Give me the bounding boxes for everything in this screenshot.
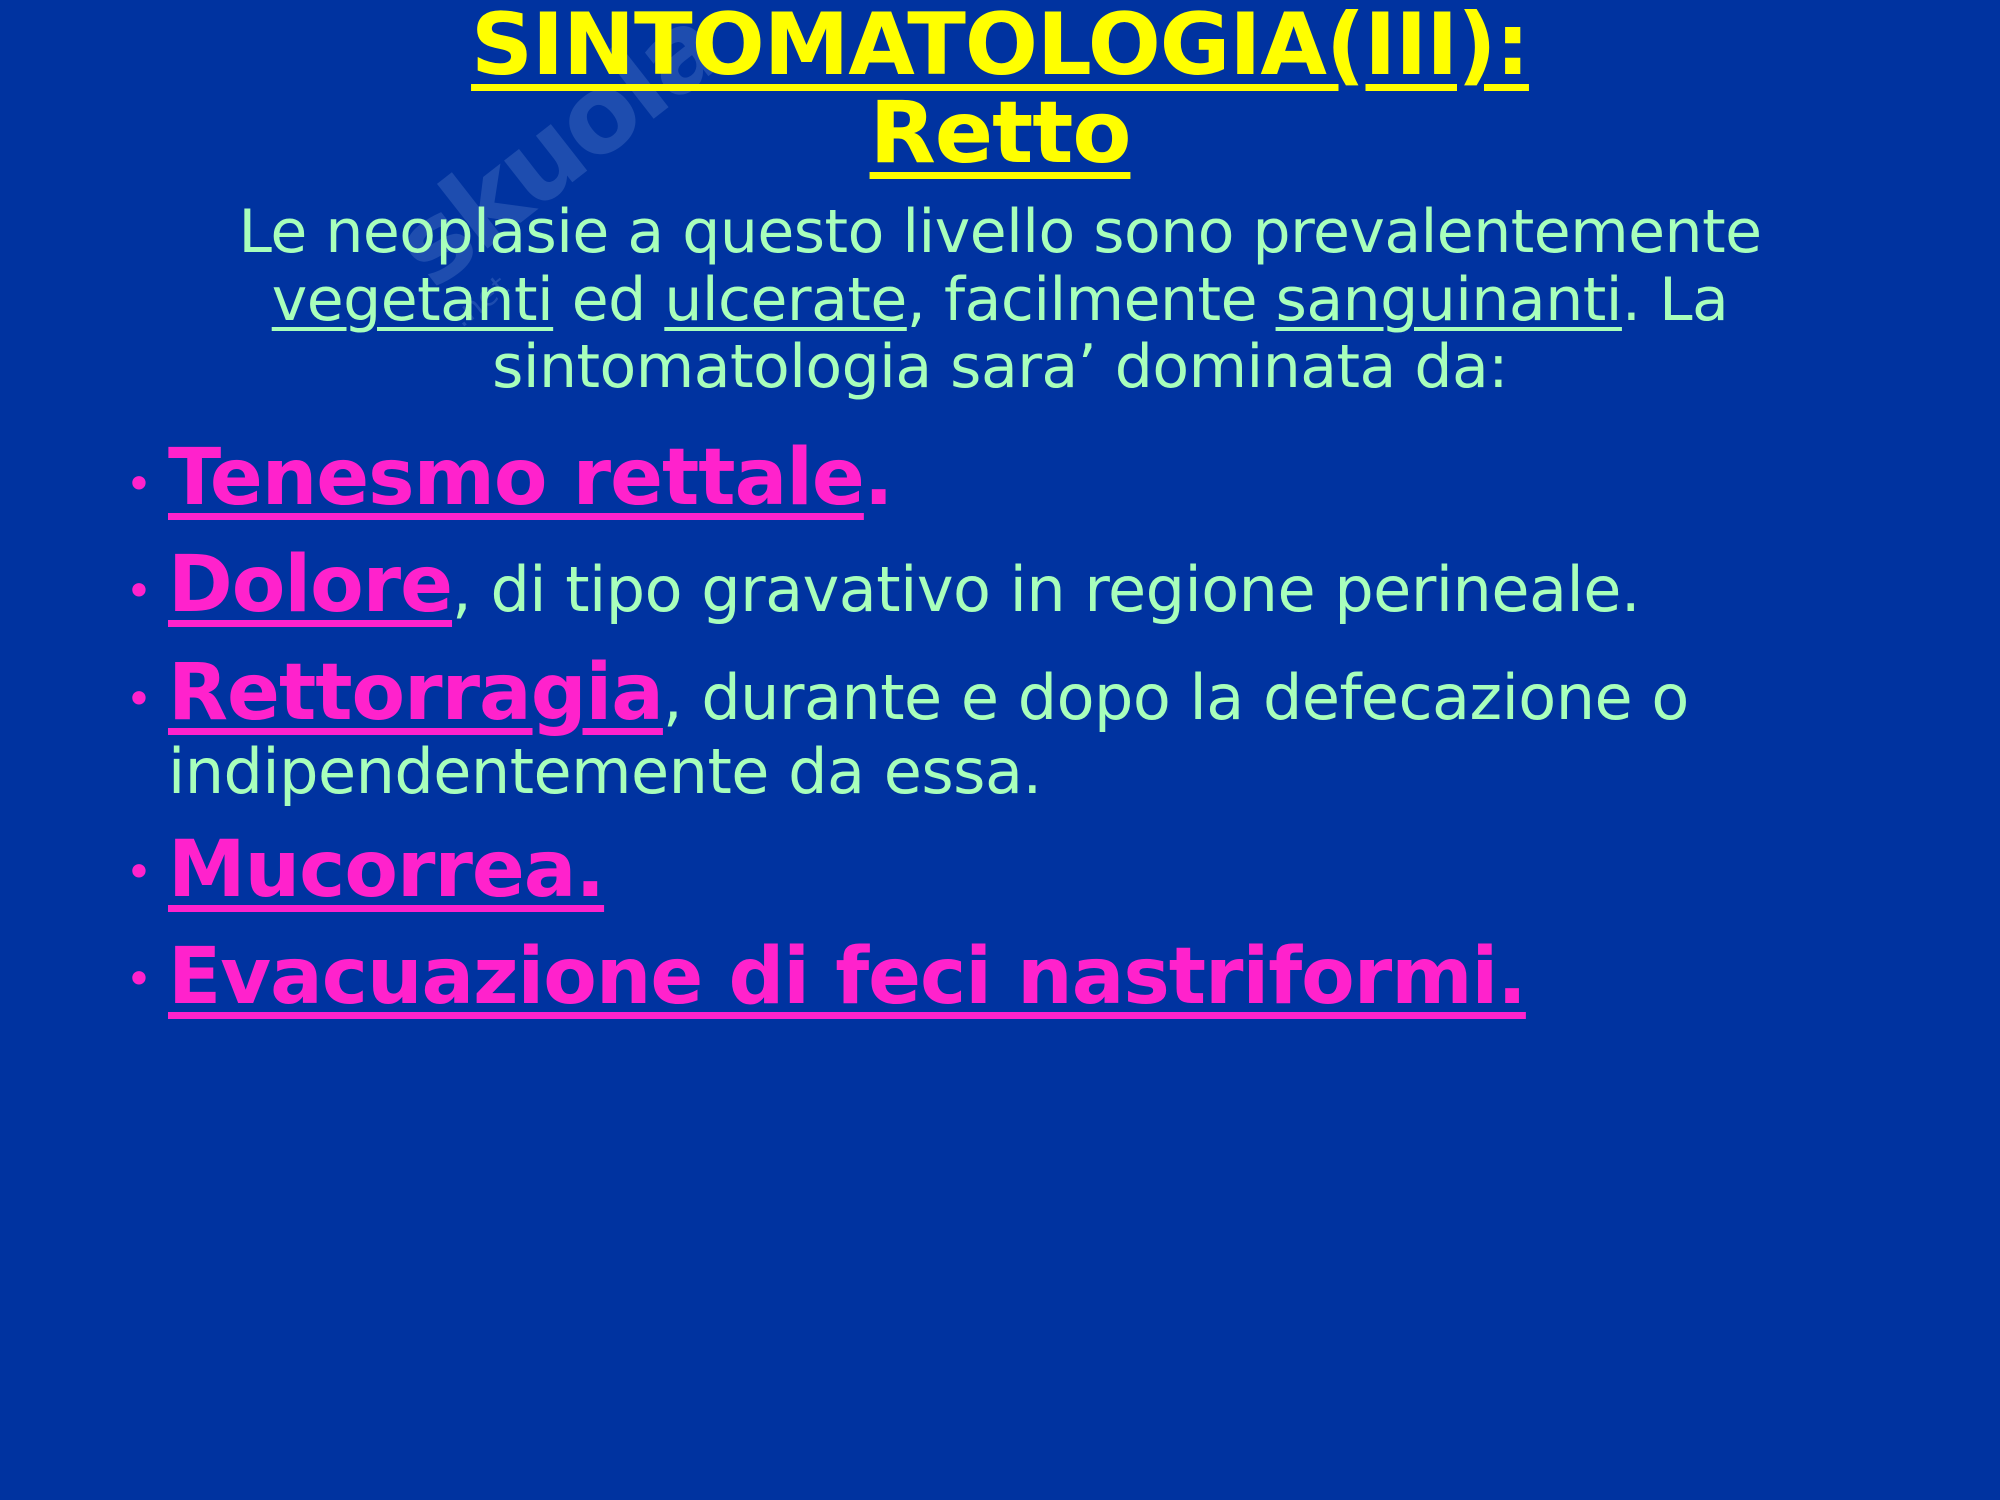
slide-canvas: skuola .net SINTOMATOLOGIA(III): Retto L… xyxy=(0,0,2000,1500)
bullet-text-1: Tenesmo rettale. xyxy=(168,435,1960,522)
bullet-4-highlight: Mucorrea. xyxy=(168,825,604,915)
intro-segment-3: ed xyxy=(553,265,664,335)
slide-title: SINTOMATOLOGIA(III): Retto xyxy=(0,0,2000,177)
symptom-bullet-list: • Tenesmo rettale. • Dolore, di tipo gra… xyxy=(0,435,2000,1021)
list-item: • Evacuazione di feci nastriformi. xyxy=(110,934,1960,1021)
list-item: • Mucorrea. xyxy=(110,827,1960,914)
list-item: • Dolore, di tipo gravativo in regione p… xyxy=(110,542,1960,629)
bullet-text-5: Evacuazione di feci nastriformi. xyxy=(168,934,1960,1021)
bullet-text-2: Dolore, di tipo gravativo in regione per… xyxy=(168,542,1960,629)
bullet-2-tail: , di tipo gravativo in regione perineale… xyxy=(452,553,1640,626)
intro-paragraph: Le neoplasie a questo livello sono preva… xyxy=(0,177,2000,401)
bullet-1-after: . xyxy=(864,433,893,523)
bullet-3-highlight: Rettorragia xyxy=(168,648,663,738)
bullet-dot-icon: • xyxy=(110,934,168,1002)
bullet-5-highlight: Evacuazione di feci nastriformi. xyxy=(168,932,1526,1022)
title-line-1: SINTOMATOLOGIA(III): xyxy=(0,2,2000,90)
intro-term-vegetanti: vegetanti xyxy=(272,265,553,335)
bullet-dot-icon: • xyxy=(110,542,168,614)
bullet-text-3: Rettorragia, durante e dopo la defecazio… xyxy=(168,650,1960,807)
bullet-dot-icon: • xyxy=(110,435,168,507)
intro-segment-1: Le neoplasie a questo livello sono preva… xyxy=(238,197,1761,267)
intro-term-ulcerate: ulcerate xyxy=(664,265,906,335)
title-line-1-text: SINTOMATOLOGIA(III): xyxy=(471,0,1529,95)
intro-segment-5: , facilmente xyxy=(907,265,1276,335)
bullet-1-highlight: Tenesmo rettale xyxy=(168,433,864,523)
bullet-dot-icon: • xyxy=(110,650,168,722)
title-line-2-text: Retto xyxy=(870,83,1131,183)
list-item: • Tenesmo rettale. xyxy=(110,435,1960,522)
bullet-text-4: Mucorrea. xyxy=(168,827,1960,914)
bullet-dot-icon: • xyxy=(110,827,168,895)
intro-term-sanguinanti: sanguinanti xyxy=(1276,265,1622,335)
list-item: • Rettorragia, durante e dopo la defecaz… xyxy=(110,650,1960,807)
title-line-2: Retto xyxy=(0,90,2000,178)
slide-content: SINTOMATOLOGIA(III): Retto Le neoplasie … xyxy=(0,0,2000,1500)
bullet-2-highlight: Dolore xyxy=(168,540,452,630)
